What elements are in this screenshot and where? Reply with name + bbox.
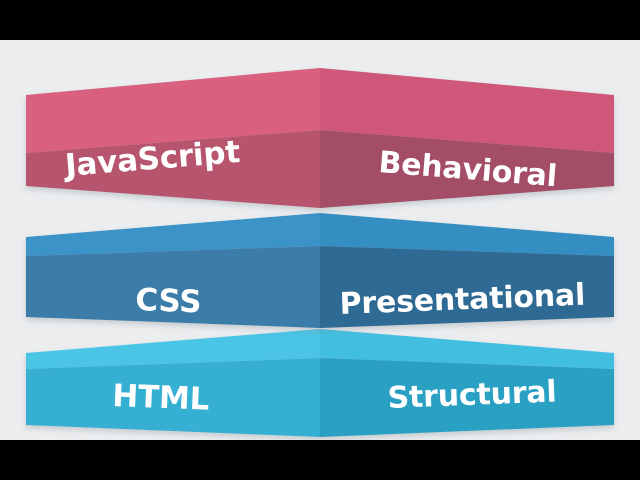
layer-structural-technology-label: HTML [112,378,210,418]
letterbox-bar-bottom [0,440,640,480]
diagram-stage: HTML Structural CSS Presentational JavaS… [0,0,640,480]
letterbox-bar-top [0,0,640,40]
diagram-canvas: HTML Structural CSS Presentational JavaS… [0,40,640,440]
layer-presentational-technology-label: CSS [135,282,202,320]
layer-stack-illustration: HTML Structural CSS Presentational JavaS… [0,40,640,440]
layer-structural-role-label: Structural [387,375,557,416]
